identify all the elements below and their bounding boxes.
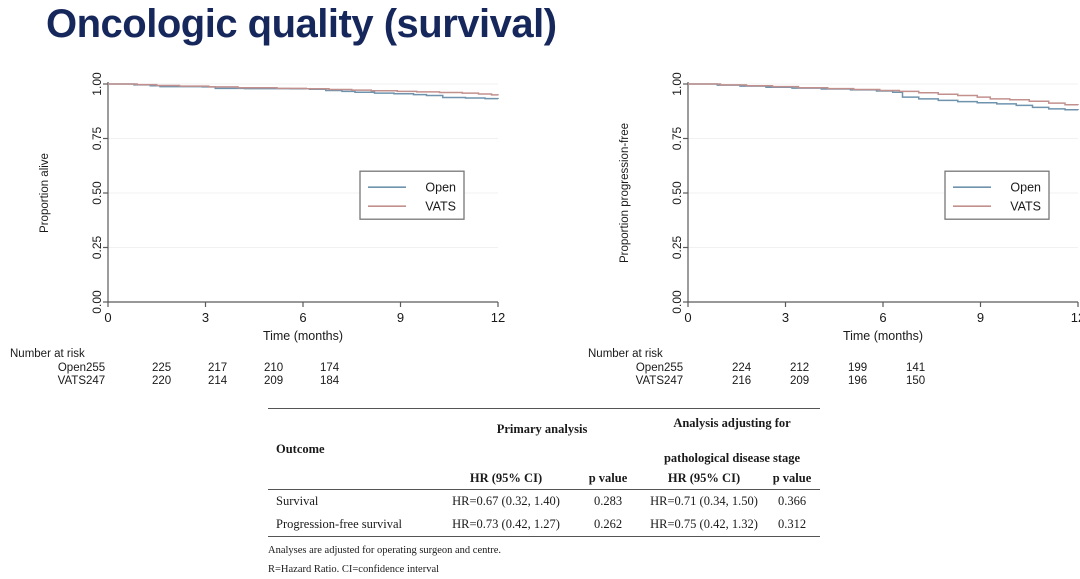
- svg-text:Open: Open: [425, 181, 456, 195]
- svg-text:3: 3: [202, 310, 209, 325]
- svg-text:0: 0: [104, 310, 111, 325]
- number-at-risk-row-open: Open255224212199141: [588, 362, 964, 376]
- column-header-adjusted-line1: Analysis adjusting for: [644, 409, 820, 450]
- page-title: Oncologic quality (survival): [46, 2, 557, 47]
- svg-text:0.75: 0.75: [90, 126, 104, 150]
- cell-hr-adjusted: HR=0.71 (0.34, 1.50): [644, 490, 764, 514]
- svg-text:Time (months): Time (months): [843, 329, 923, 343]
- svg-text:12: 12: [1071, 310, 1080, 325]
- number-at-risk-row-vats: VATS247216209196150: [588, 375, 964, 389]
- number-at-risk-title: Number at risk: [10, 348, 376, 362]
- risk-value: 224: [732, 362, 790, 376]
- cell-hr-primary: HR=0.67 (0.32, 1.40): [440, 490, 572, 514]
- risk-value: 141: [906, 362, 964, 376]
- risk-value: 247: [664, 375, 732, 389]
- risk-value: 225: [152, 362, 208, 376]
- cell-outcome: Progression-free survival: [268, 513, 440, 537]
- risk-row-label: VATS: [28, 375, 86, 389]
- risk-value: 217: [208, 362, 264, 376]
- number-at-risk-row-open: Open255225217210174: [10, 362, 376, 376]
- risk-value: 255: [86, 362, 152, 376]
- cell-p-primary: 0.283: [572, 490, 644, 514]
- risk-row-label: Open: [28, 362, 86, 376]
- cell-p-adjusted: 0.366: [764, 490, 820, 514]
- table-footnotes: Analyses are adjusted for operating surg…: [268, 541, 820, 579]
- column-header-primary-analysis: Primary analysis: [440, 409, 644, 450]
- svg-text:1.00: 1.00: [90, 72, 104, 96]
- footnote-abbreviations: R=Hazard Ratio. CI=confidence interval: [268, 560, 820, 579]
- risk-value: 220: [152, 375, 208, 389]
- progression-free-chart-panel: 0.000.250.500.751.00036912Time (months)P…: [610, 70, 1080, 360]
- svg-text:0.50: 0.50: [670, 181, 684, 205]
- svg-text:3: 3: [782, 310, 789, 325]
- risk-value: 216: [732, 375, 790, 389]
- table-row: Survival HR=0.67 (0.32, 1.40) 0.283 HR=0…: [268, 490, 820, 514]
- column-header-primary-analysis-spacer: [440, 449, 644, 467]
- svg-text:0.00: 0.00: [670, 290, 684, 314]
- cell-p-primary: 0.262: [572, 513, 644, 537]
- table-header-row-1: Outcome Primary analysis Analysis adjust…: [268, 409, 820, 450]
- svg-text:0.25: 0.25: [90, 235, 104, 259]
- svg-text:6: 6: [879, 310, 886, 325]
- risk-value: 212: [790, 362, 848, 376]
- svg-text:Time (months): Time (months): [263, 329, 343, 343]
- risk-value: 210: [264, 362, 320, 376]
- number-at-risk-right: Number at risk Open255224212199141 VATS2…: [588, 348, 964, 389]
- number-at-risk-row-vats: VATS247220214209184: [10, 375, 376, 389]
- number-at-risk-title: Number at risk: [588, 348, 964, 362]
- svg-text:6: 6: [299, 310, 306, 325]
- column-header-p-primary: p value: [572, 467, 644, 490]
- cell-hr-adjusted: HR=0.75 (0.42, 1.32): [644, 513, 764, 537]
- overall-survival-chart: 0.000.250.500.751.00036912Time (months)P…: [30, 70, 510, 360]
- column-header-p-adjusted: p value: [764, 467, 820, 490]
- svg-text:VATS: VATS: [1010, 200, 1041, 214]
- svg-text:0.75: 0.75: [670, 126, 684, 150]
- svg-text:0: 0: [684, 310, 691, 325]
- risk-value: 199: [848, 362, 906, 376]
- svg-text:VATS: VATS: [425, 200, 456, 214]
- risk-row-label: VATS: [606, 375, 664, 389]
- column-header-adjusted-line2: pathological disease stage: [644, 449, 820, 467]
- risk-value: 150: [906, 375, 964, 389]
- risk-value: 214: [208, 375, 264, 389]
- svg-text:0.25: 0.25: [670, 235, 684, 259]
- svg-text:9: 9: [977, 310, 984, 325]
- column-header-outcome: Outcome: [268, 409, 440, 490]
- svg-text:1.00: 1.00: [670, 72, 684, 96]
- svg-text:0.00: 0.00: [90, 290, 104, 314]
- svg-text:Proportion progression-free: Proportion progression-free: [619, 123, 631, 263]
- svg-text:Proportion alive: Proportion alive: [39, 153, 51, 233]
- risk-value: 174: [320, 362, 376, 376]
- cell-p-adjusted: 0.312: [764, 513, 820, 537]
- number-at-risk-left: Number at risk Open255225217210174 VATS2…: [10, 348, 376, 389]
- cell-outcome: Survival: [268, 490, 440, 514]
- svg-text:12: 12: [491, 310, 505, 325]
- survival-chart-panel: 0.000.250.500.751.00036912Time (months)P…: [30, 70, 510, 360]
- column-header-hr-adjusted: HR (95% CI): [644, 467, 764, 490]
- risk-value: 255: [664, 362, 732, 376]
- risk-value: 184: [320, 375, 376, 389]
- svg-text:Open: Open: [1010, 181, 1041, 195]
- svg-text:9: 9: [397, 310, 404, 325]
- svg-text:0.50: 0.50: [90, 181, 104, 205]
- results-table-container: Outcome Primary analysis Analysis adjust…: [268, 408, 820, 579]
- progression-free-survival-chart: 0.000.250.500.751.00036912Time (months)P…: [610, 70, 1080, 360]
- risk-row-label: Open: [606, 362, 664, 376]
- footnote-analyses-adjusted: Analyses are adjusted for operating surg…: [268, 541, 820, 560]
- cell-hr-primary: HR=0.73 (0.42, 1.27): [440, 513, 572, 537]
- risk-value: 196: [848, 375, 906, 389]
- table-row: Progression-free survival HR=0.73 (0.42,…: [268, 513, 820, 537]
- results-table: Outcome Primary analysis Analysis adjust…: [268, 408, 820, 537]
- risk-value: 247: [86, 375, 152, 389]
- risk-value: 209: [790, 375, 848, 389]
- column-header-hr-primary: HR (95% CI): [440, 467, 572, 490]
- risk-value: 209: [264, 375, 320, 389]
